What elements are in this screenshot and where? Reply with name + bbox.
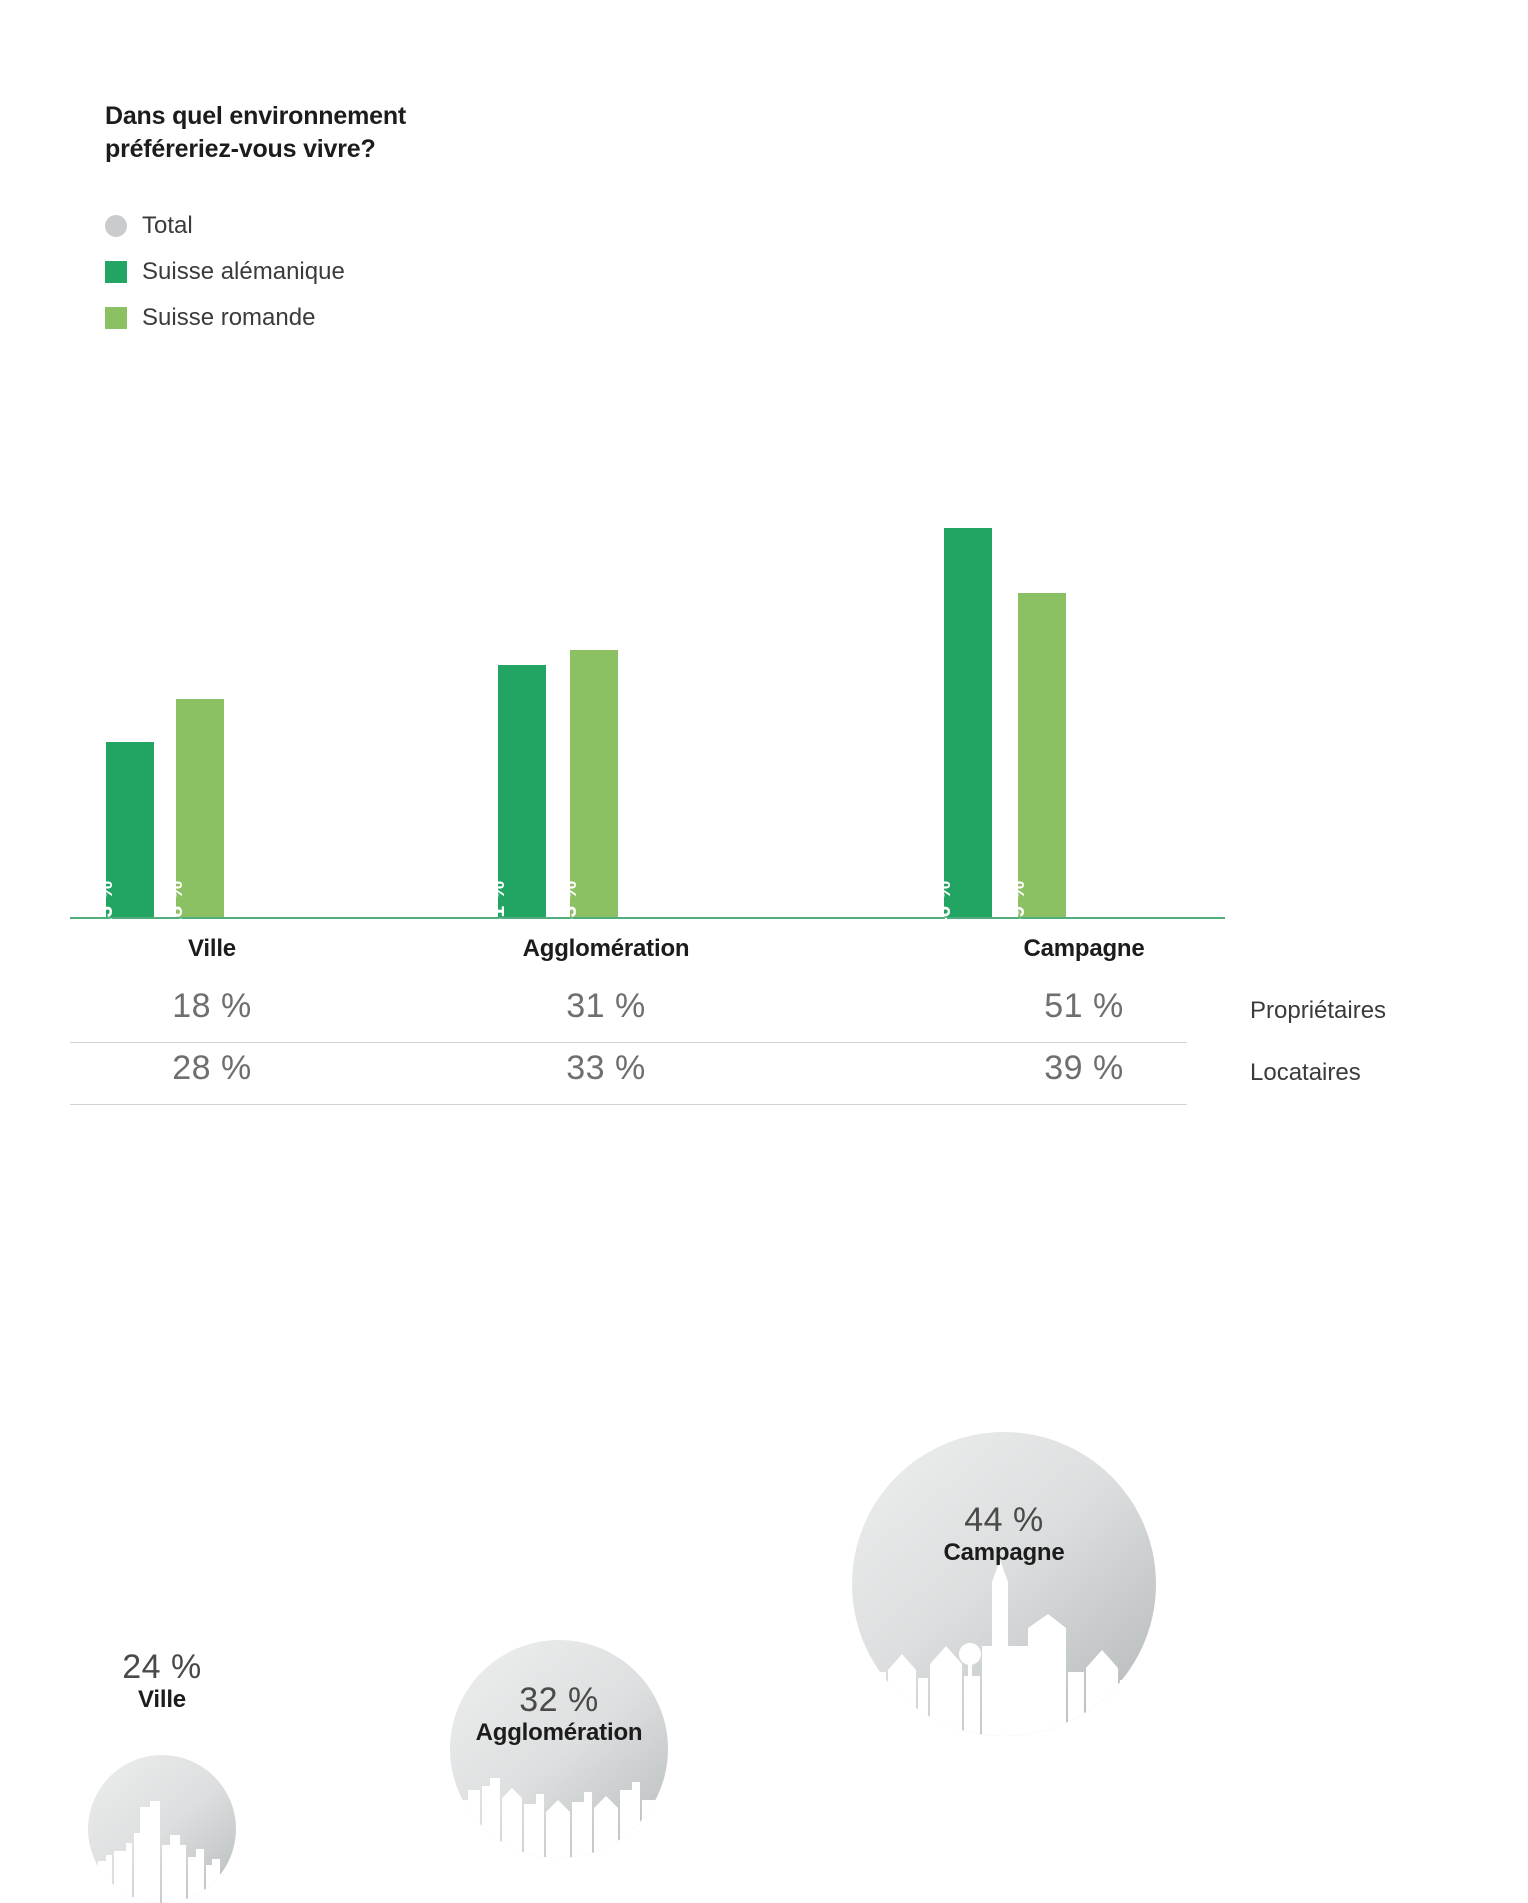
table-cell-locataires-agglomeration: 33 %: [456, 1049, 756, 1088]
bubble-total-value-ville: 24 %: [88, 1650, 236, 1686]
bar-ville-suisse-romande[interactable]: 28 %: [176, 699, 224, 917]
bubble-name-ville: Ville: [88, 1686, 236, 1714]
bar-campagne-suisse-romande[interactable]: 39 %: [1018, 593, 1066, 917]
table-row-label-proprietaires: Propriétaires: [1250, 997, 1386, 1025]
table-cell-locataires-campagne: 39 %: [934, 1049, 1234, 1088]
table-header-campagne: Campagne: [934, 935, 1234, 963]
bar-agglomeration-suisse-alemanique[interactable]: 31 %: [498, 665, 546, 917]
table-rule: [70, 1104, 1187, 1105]
bubble-ville: [88, 1755, 236, 1903]
village-church-icon: [852, 1432, 1156, 1736]
suburb-skyline-icon: [450, 1640, 668, 1858]
table-cell-locataires-ville: 28 %: [62, 1049, 362, 1088]
bar-label-agglomeration-suisse-romande: 33 %: [570, 880, 594, 929]
table-row: 28 % 33 % 39 % Locataires: [70, 1043, 1460, 1105]
bar-label-campagne-suisse-alemanique: 46 %: [944, 880, 968, 929]
chart-baseline: [70, 917, 1225, 919]
table-header-agglomeration: Agglomération: [456, 935, 756, 963]
bar-label-campagne-suisse-romande: 39 %: [1018, 880, 1042, 929]
bar-label-ville-suisse-alemanique: 23 %: [106, 880, 130, 929]
bar-campagne-suisse-alemanique[interactable]: 46 %: [944, 528, 992, 917]
city-skyline-icon: [88, 1755, 236, 1903]
table-header-row: Ville Agglomération Campagne: [70, 935, 1460, 981]
table-cell-proprietaires-agglomeration: 31 %: [456, 987, 756, 1026]
bar-agglomeration-suisse-romande[interactable]: 33 %: [570, 650, 618, 917]
data-table: Ville Agglomération Campagne 18 % 31 % 5…: [70, 935, 1460, 1105]
table-row-label-locataires: Locataires: [1250, 1059, 1361, 1087]
table-header-ville: Ville: [62, 935, 362, 963]
bubble-campagne: [852, 1432, 1156, 1736]
bubble-agglomeration: [450, 1640, 668, 1858]
bar-label-ville-suisse-romande: 28 %: [176, 880, 200, 929]
bubble-text-ville: 24 % Ville: [88, 1650, 236, 1713]
table-cell-proprietaires-campagne: 51 %: [934, 987, 1234, 1026]
table-row: 18 % 31 % 51 % Propriétaires: [70, 981, 1460, 1043]
bar-label-agglomeration-suisse-alemanique: 31 %: [498, 880, 522, 929]
table-cell-proprietaires-ville: 18 %: [62, 987, 362, 1026]
bar-ville-suisse-alemanique[interactable]: 23 %: [106, 742, 154, 917]
